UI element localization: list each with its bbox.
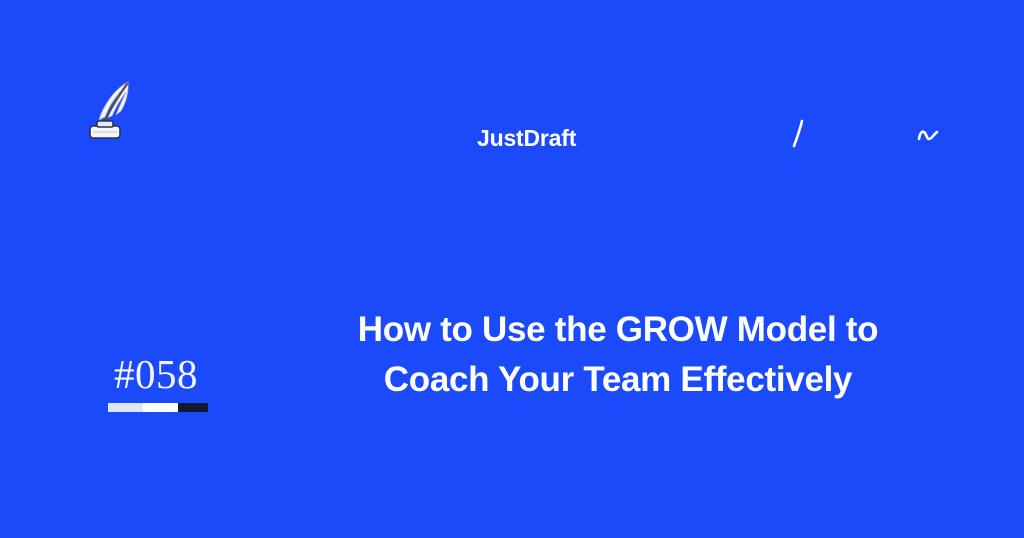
progress-segment-remaining: [178, 403, 208, 412]
issue-progress-bar: [108, 403, 208, 412]
quill-and-ink-icon: [84, 76, 140, 142]
slash-mark-icon: [786, 117, 810, 151]
squiggle-mark-icon: [914, 122, 944, 148]
slide-canvas: JustDraft #058 How to Use the GROW Model…: [0, 0, 1024, 538]
issue-number: #058: [108, 350, 218, 398]
issue-block: #058: [108, 350, 218, 412]
brand-name: JustDraft: [477, 124, 576, 152]
headline-line-1: How to Use the GROW Model to: [212, 305, 1024, 355]
headline-line-2: Coach Your Team Effectively: [212, 355, 1024, 405]
headline: How to Use the GROW Model to Coach Your …: [212, 305, 1024, 405]
progress-segment-filled-white: [143, 403, 178, 412]
progress-segment-filled-light: [108, 403, 143, 412]
